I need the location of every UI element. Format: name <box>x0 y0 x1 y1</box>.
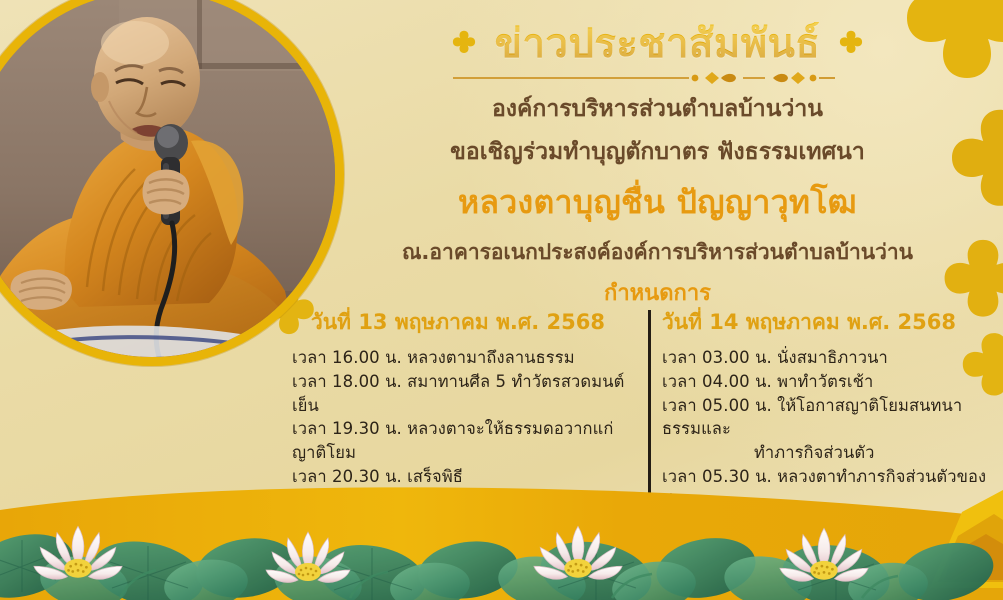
page-title: ข่าวประชาสัมพันธ์ <box>495 22 821 67</box>
schedule-entry: เวลา 05.00 น. ให้โอกาสญาติโยมสนทนาธรรมแล… <box>662 394 992 465</box>
schedule-date-day1: วันที่ 13 พฤษภาคม พ.ศ. 2568 <box>292 306 630 339</box>
schedule-entry-continuation: ทำภารกิจส่วนตัว <box>662 441 992 465</box>
schedule-entry: เวลา 03.00 น. นั่งสมาธิภาวนา <box>662 346 992 370</box>
announcement-poster: ข่าวประชาสัมพันธ์ องค์การบริหารส่วนตำบลบ… <box>0 0 1003 600</box>
poster-header: ข่าวประชาสัมพันธ์ องค์การบริหารส่วนตำบลบ… <box>330 22 985 310</box>
schedule-entry: เวลา 16.00 น. หลวงตามาถึงลานธรรม <box>292 346 630 370</box>
monk-portrait-photo <box>0 0 335 357</box>
main-title-row: ข่าวประชาสัมพันธ์ <box>330 22 985 67</box>
schedule-entry-text: เวลา 05.00 น. ให้โอกาสญาติโยมสนทนาธรรมแล… <box>662 396 962 439</box>
schedule-entry-text: เวลา 04.00 น. พาทำวัตรเช้า <box>662 372 873 391</box>
monk-name: หลวงตาบุญชื่น ปัญญาวุทโฒ <box>330 177 985 228</box>
organization-name: องค์การบริหารส่วนตำบลบ้านว่าน <box>330 94 985 126</box>
schedule-entry-text: เวลา 16.00 น. หลวงตามาถึงลานธรรม <box>292 348 575 367</box>
schedule-entries-day1: เวลา 16.00 น. หลวงตามาถึงลานธรรมเวลา 18.… <box>292 346 630 489</box>
invitation-text: ขอเชิญร่วมทำบุญตักบาตร ฟังธรรมเทศนา <box>330 137 985 169</box>
schedule-entry: เวลา 18.00 น. สมาทานศีล 5 ทำวัตรสวดมนต์เ… <box>292 370 630 418</box>
monk-portrait-illustration <box>0 0 335 357</box>
lotus-flower-border <box>0 470 1003 600</box>
ornamental-divider-icon <box>443 70 873 86</box>
schedule-entry-text: เวลา 03.00 น. นั่งสมาธิภาวนา <box>662 348 888 367</box>
schedule-entry: เวลา 19.30 น. หลวงตาจะให้ธรรมดอวากแก่ญาต… <box>292 417 630 465</box>
agenda-heading: กำหนดการ <box>330 275 985 310</box>
hand-on-lap <box>11 270 72 310</box>
schedule-date-day2: วันที่ 14 พฤษภาคม พ.ศ. 2568 <box>662 306 992 339</box>
quatrefoil-ornament-icon <box>836 29 866 59</box>
venue-text: ณ.อาคารอเนกประสงค์องค์การบริหารส่วนตำบลบ… <box>330 238 985 267</box>
schedule-entry: เวลา 04.00 น. พาทำวัตรเช้า <box>662 370 992 394</box>
schedule-entry-text: เวลา 18.00 น. สมาทานศีล 5 ทำวัตรสวดมนต์เ… <box>292 372 624 415</box>
schedule-entry-text: เวลา 19.30 น. หลวงตาจะให้ธรรมดอวากแก่ญาต… <box>292 419 613 462</box>
quatrefoil-ornament-icon <box>449 29 479 59</box>
hand-holding-microphone <box>143 170 190 215</box>
